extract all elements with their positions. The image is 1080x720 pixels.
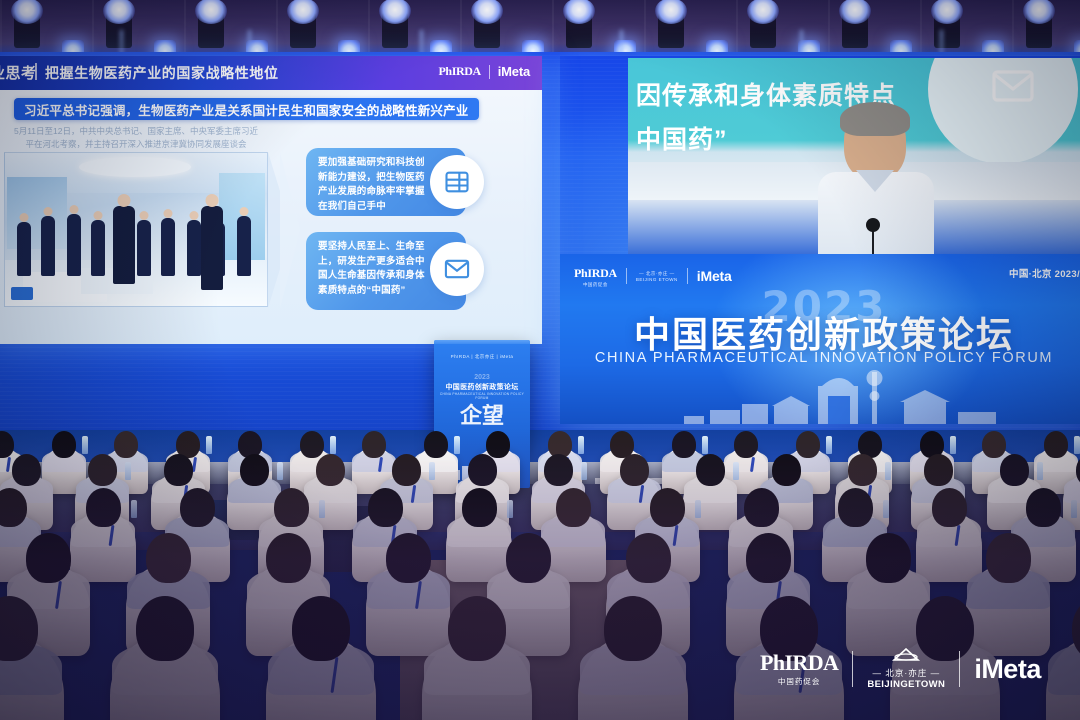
audience-head — [274, 488, 309, 527]
moving-head-light — [654, 0, 688, 50]
water-bottle — [125, 462, 131, 480]
forum-location-date: 中国·北京 2023/7/2 — [1009, 266, 1080, 280]
water-bottle — [507, 500, 513, 518]
phirda-logo: PhIRDA — [438, 64, 480, 79]
audience-head — [1026, 488, 1061, 527]
photo-person — [91, 220, 105, 276]
audience-head — [924, 454, 953, 486]
water-bottle — [131, 500, 137, 518]
audience-head — [848, 454, 877, 486]
watermark-divider — [959, 651, 960, 687]
audience-head — [696, 454, 725, 486]
watermark-imeta: iMeta — [974, 656, 1041, 683]
moving-head-light — [470, 0, 504, 50]
presentation-slide-screen: 业思考 把握生物医药产业的国家战略性地位 PhIRDA iMeta 习近平总书记… — [0, 56, 542, 344]
watermark-beijing-cn: — 北京·亦庄 — — [867, 667, 945, 679]
moving-head-light — [10, 0, 44, 50]
watermark-phirda-text: PhIRDA — [760, 652, 838, 674]
photo-person — [67, 214, 81, 276]
photo-wall-panel-left — [7, 177, 67, 249]
audience-shoulders — [1048, 643, 1080, 695]
audience-head — [52, 431, 76, 458]
slide-headline-banner: 习近平总书记强调，生物医药产业是关系国计民生和国家安全的战略性新兴产业 — [14, 98, 479, 120]
imeta-logo: iMeta — [498, 64, 530, 79]
water-bottle — [319, 500, 325, 518]
photo-source-badge — [11, 287, 33, 300]
audience-head — [1000, 454, 1029, 486]
audience-head — [240, 454, 269, 486]
water-bottle — [206, 436, 212, 454]
water-bottle — [885, 462, 891, 480]
podium-top-surface — [434, 340, 530, 344]
water-bottle — [1037, 462, 1043, 480]
photo-ceiling-light — [79, 157, 191, 177]
photo-person — [41, 216, 55, 276]
water-bottle — [733, 462, 739, 480]
audience-head — [626, 533, 671, 583]
audience-head — [362, 431, 386, 458]
audience-head — [486, 431, 510, 458]
moving-head-light — [1022, 0, 1056, 50]
podium-year: 2023 — [434, 374, 530, 381]
audience-head — [386, 533, 431, 583]
water-bottle — [578, 436, 584, 454]
audience-head — [180, 488, 215, 527]
beijing-etown-en: BEIJING ETOWN — [636, 277, 678, 282]
photo-person — [161, 218, 175, 276]
water-bottle — [702, 436, 708, 454]
audience-head — [604, 596, 662, 661]
logo-divider — [489, 65, 490, 79]
phirda-logo: PhIRDA — [574, 266, 617, 280]
audience-head — [86, 488, 121, 527]
water-bottle — [950, 436, 956, 454]
watermark-divider — [852, 651, 853, 687]
audience-head — [164, 454, 193, 486]
slide-headline-text: 习近平总书记强调，生物医药产业是关系国计民生和国家安全的战略性新兴产业 — [24, 100, 469, 119]
audience-head — [506, 533, 551, 583]
speaker-hair — [840, 102, 910, 136]
audience-head — [424, 431, 448, 458]
photo-person — [187, 220, 201, 276]
audience-head — [744, 488, 779, 527]
stage-lighting-truss — [0, 0, 1080, 58]
forum-branding-panel: PhIRDA 中国药促会 — 北京·亦庄 — BEIJING ETOWN iMe… — [560, 254, 1080, 424]
audience-head — [114, 431, 138, 458]
moving-head-light — [102, 0, 136, 50]
photo-person-right — [201, 206, 223, 290]
moving-head-light — [746, 0, 780, 50]
audience-head — [746, 533, 791, 583]
watermark-beijing-etown: — 北京·亦庄 — BEIJINGETOWN — [867, 648, 945, 690]
moving-head-light — [378, 0, 412, 50]
audience-head — [556, 488, 591, 527]
audience-head — [88, 454, 117, 486]
slide-photo — [4, 152, 268, 307]
audience-head — [146, 533, 191, 583]
etown-mark-icon — [891, 648, 921, 662]
photo-person — [137, 220, 151, 276]
water-bottle — [1074, 436, 1080, 454]
audience-head — [300, 431, 324, 458]
slide-callout-2-text: 要坚持人民至上、生命至上，研发生产更多适合中国人生命基因传承和身体素质特点的“中… — [318, 240, 432, 299]
audience-head — [0, 488, 27, 527]
feed-slide-text-line2: 中国药” — [636, 120, 728, 156]
beijing-etown-logo-block: — 北京·亦庄 — BEIJING ETOWN — [636, 271, 678, 282]
speaker-on-screen — [816, 106, 936, 254]
beijing-skyline-icon — [560, 362, 1080, 424]
photo-person — [17, 222, 31, 276]
audience-head — [26, 533, 71, 583]
audience-head — [368, 488, 403, 527]
envelope-icon — [430, 242, 484, 296]
audience-head — [316, 454, 345, 486]
audience-head — [796, 431, 820, 458]
slide-header-main-title: 把握生物医药产业的国家战略性地位 — [45, 63, 279, 83]
book-icon — [430, 155, 484, 209]
audience-head — [136, 596, 194, 661]
audience-head — [932, 488, 967, 527]
water-bottle — [330, 436, 336, 454]
microphone-icon — [866, 218, 880, 232]
slide-caption-text: 5月11日至12日，中共中央总书记、国家主席、中央军委主席习近平在河北考察，并主… — [12, 125, 260, 151]
slide-body: 习近平总书记强调，生物医药产业是关系国计民生和国家安全的战略性新兴产业 5月11… — [0, 90, 542, 344]
watermark-beijing-en: BEIJINGETOWN — [867, 679, 945, 690]
photo-person — [237, 216, 251, 276]
watermark-phirda: PhIRDA 中国药促会 — [760, 652, 838, 687]
audience-head — [672, 431, 696, 458]
water-bottle — [1071, 500, 1077, 518]
water-bottle — [695, 500, 701, 518]
feed-envelope-icon — [980, 62, 1046, 110]
audience-head — [462, 488, 497, 527]
right-led-screen: 因传承和身体素质特点 中国药” PhIRDA 中国药促会 — [560, 56, 1080, 424]
microphone-stem — [872, 230, 874, 254]
audience-head — [1044, 431, 1068, 458]
water-bottle — [454, 436, 460, 454]
beijing-etown-cn: — 北京·亦庄 — — [636, 271, 678, 277]
audience-head — [266, 533, 311, 583]
audience-head — [392, 454, 421, 486]
audience-head — [986, 533, 1031, 583]
audience-head — [12, 454, 41, 486]
conference-photo-scene: 业思考 把握生物医药产业的国家战略性地位 PhIRDA iMeta 习近平总书记… — [0, 0, 1080, 720]
slide-header-divider — [35, 63, 37, 80]
moving-head-light — [838, 0, 872, 50]
podium-calligraphy: 企望 — [434, 406, 530, 427]
moving-head-light — [286, 0, 320, 50]
podium-title-en: CHINA PHARMACEUTICAL INNOVATION POLICY F… — [434, 392, 530, 400]
water-bottle — [581, 462, 587, 480]
water-bottle — [82, 436, 88, 454]
audience-head — [734, 431, 758, 458]
audience-head — [772, 454, 801, 486]
audience-head — [620, 454, 649, 486]
slide-header-left-title: 业思考 — [0, 62, 37, 83]
watermark-phirda-sub: 中国药促会 — [760, 676, 838, 687]
water-bottle — [429, 462, 435, 480]
audience-head — [468, 454, 497, 486]
chevron-decoration — [268, 152, 304, 308]
slide-header-logos: PhIRDA iMeta — [438, 64, 530, 79]
water-bottle — [883, 500, 889, 518]
audience-head — [544, 454, 573, 486]
audience-head — [838, 488, 873, 527]
audience-head — [448, 596, 506, 661]
podium-logo-row: PhIRDA | 北京亦庄 | iMeta — [434, 354, 530, 360]
moving-head-light — [194, 0, 228, 50]
slide-header-bar: 业思考 把握生物医药产业的国家战略性地位 PhIRDA iMeta — [0, 56, 542, 90]
audience-head — [866, 533, 911, 583]
water-bottle — [277, 462, 283, 480]
water-bottle — [826, 436, 832, 454]
audience-head — [650, 488, 685, 527]
slide-callout-1-text: 要加强基础研究和科技创新能力建设，把生物医药产业发展的命脉牢牢掌握在我们自己手中 — [318, 156, 432, 215]
moving-head-light — [562, 0, 596, 50]
bottom-watermark-logos: PhIRDA 中国药促会 — 北京·亦庄 — BEIJINGETOWN iMet… — [760, 648, 1041, 690]
audience-head — [292, 596, 350, 661]
moving-head-light — [930, 0, 964, 50]
photo-person-center — [113, 206, 135, 284]
audience-head — [982, 431, 1006, 458]
live-camera-feed: 因传承和身体素质特点 中国药” — [628, 58, 1080, 254]
podium-title-cn: 中国医药创新政策论坛 — [434, 382, 530, 392]
